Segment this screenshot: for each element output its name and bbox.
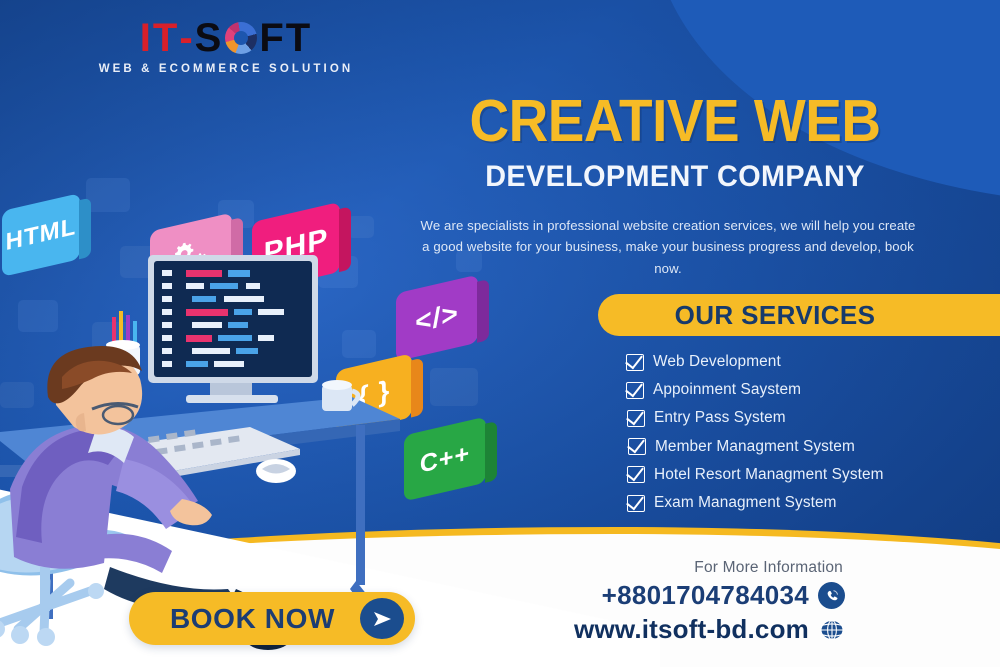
service-item-label: Entry Pass System: [654, 409, 786, 427]
brand-name-ft: FT: [259, 18, 312, 58]
brand-name-dash: -: [179, 18, 194, 58]
book-now-label: BOOK NOW: [129, 603, 360, 635]
service-item-label: Appoinment Saystem: [653, 381, 801, 399]
headline-block: CREATIVE WEB DEVELOPMENT COMPANY: [415, 92, 935, 192]
promo-banner: IT - S FT WEB & ECOMMERCE SOLUTION CREAT…: [0, 0, 1000, 667]
brand-name-it: IT: [140, 18, 180, 58]
play-arrow-glyph: [371, 609, 393, 629]
checkbox-checked-icon: [627, 495, 645, 512]
brand-tagline: WEB & ECOMMERCE SOLUTION: [76, 63, 376, 75]
checkbox-checked-icon: [627, 466, 645, 483]
play-arrow-icon: [360, 598, 404, 639]
services-list: Web Development Appoinment Saystem Entry…: [626, 348, 996, 517]
service-item[interactable]: Member Managment System: [628, 433, 996, 461]
service-item[interactable]: Hotel Resort Managment System: [627, 461, 996, 489]
phone-icon: [818, 582, 845, 609]
checkbox-checked-icon: [626, 354, 644, 371]
brand-name-s: S: [195, 18, 224, 58]
monitor-icon: [148, 255, 318, 403]
contact-website-row[interactable]: www.itsoft-bd.com: [574, 614, 845, 645]
decor-square: [86, 178, 130, 212]
headline-primary: CREATIVE WEB: [433, 92, 917, 151]
headline-secondary: DEVELOPMENT COMPANY: [425, 162, 924, 192]
service-item[interactable]: Appoinment Saystem: [626, 376, 996, 404]
service-item-label: Hotel Resort Managment System: [654, 466, 884, 484]
contact-website-url: www.itsoft-bd.com: [574, 614, 809, 645]
globe-glyph: [819, 617, 845, 643]
services-heading-banner: OUR SERVICES: [598, 294, 1000, 336]
contact-phone-number: +8801704784034: [602, 580, 809, 611]
phone-glyph: [824, 588, 840, 604]
service-item[interactable]: Exam Managment System: [627, 489, 996, 517]
globe-icon: [818, 616, 845, 643]
intro-paragraph: We are specialists in professional websi…: [418, 215, 918, 279]
decor-square: [348, 216, 374, 238]
contact-kicker: For More Information: [574, 559, 845, 577]
mouse-icon: [256, 459, 296, 483]
service-item-label: Exam Managment System: [654, 494, 837, 512]
checkbox-checked-icon: [627, 410, 645, 427]
checkbox-checked-icon: [626, 382, 644, 399]
contact-phone-row[interactable]: +8801704784034: [574, 580, 845, 611]
book-now-button[interactable]: BOOK NOW: [129, 592, 415, 645]
service-item[interactable]: Entry Pass System: [627, 404, 996, 432]
brand-logo-wordmark: IT - S FT: [76, 18, 376, 58]
service-item[interactable]: Web Development: [626, 348, 996, 376]
globe-people-icon: [225, 22, 257, 54]
contact-block: For More Information +8801704784034 www.…: [574, 559, 845, 645]
service-item-label: Member Managment System: [655, 438, 855, 456]
checkbox-checked-icon: [628, 438, 646, 455]
services-heading-label: OUR SERVICES: [598, 300, 1000, 331]
brand-logo[interactable]: IT - S FT WEB & ECOMMERCE SOLUTION: [76, 18, 376, 75]
service-item-label: Web Development: [653, 353, 781, 371]
